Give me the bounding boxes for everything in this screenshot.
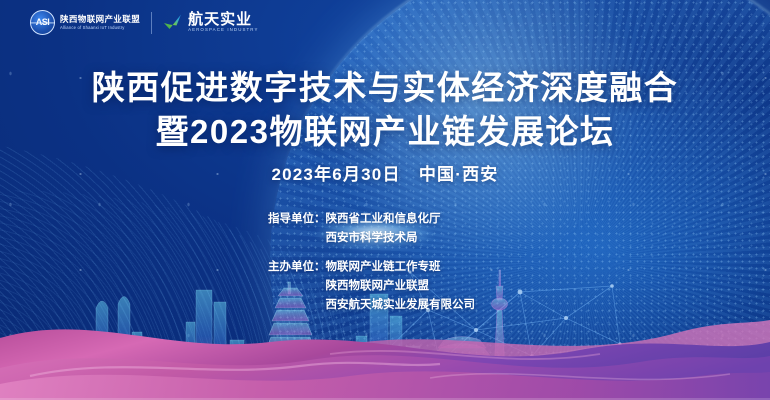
logo-bar: ASI 陕西物联网产业联盟 Alliance of Shaanxi IoT In… — [30, 10, 259, 35]
guidance-unit-block: 指导单位： 陕西省工业和信息化厅 西安市科学技术局 — [268, 210, 475, 247]
main-title: 陕西促进数字技术与实体经济深度融合 暨2023物联网产业链发展论坛 — [0, 66, 770, 154]
date-location: 2023年6月30日 中国·西安 — [0, 160, 770, 185]
aerospace-name-cn: 航天实业 — [188, 12, 258, 28]
title-line-1: 陕西促进数字技术与实体经济深度融合 — [0, 66, 770, 110]
asi-name-en: Alliance of Shaanxi IoT Industry — [60, 25, 140, 30]
guidance-unit-values: 陕西省工业和信息化厅 西安市科学技术局 — [326, 210, 441, 247]
host-unit-value: 西安航天城实业发展有限公司 — [326, 296, 476, 315]
host-unit-block: 主办单位： 物联网产业链工作专班 陕西物联网产业联盟 西安航天城实业发展有限公司 — [268, 258, 475, 314]
asi-logo[interactable]: ASI 陕西物联网产业联盟 Alliance of Shaanxi IoT In… — [30, 10, 140, 35]
aerospace-swoosh-icon — [163, 13, 182, 32]
host-unit-value: 物联网产业链工作专班 — [326, 258, 476, 277]
aerospace-logo[interactable]: 航天实业 AEROSPACE INDUSTRY — [163, 12, 258, 34]
aerospace-name-en: AEROSPACE INDUSTRY — [188, 27, 258, 33]
organizer-units: 指导单位： 陕西省工业和信息化厅 西安市科学技术局 主办单位： 物联网产业链工作… — [268, 210, 475, 325]
guidance-unit-value: 陕西省工业和信息化厅 — [326, 210, 441, 229]
guidance-unit-label: 指导单位： — [268, 210, 326, 247]
host-unit-value: 陕西物联网产业联盟 — [326, 277, 476, 296]
asi-circle-logo-icon: ASI — [30, 10, 55, 35]
vertical-divider-icon — [151, 12, 152, 34]
asi-name-cn: 陕西物联网产业联盟 — [60, 15, 140, 25]
title-line-2: 暨2023物联网产业链发展论坛 — [0, 110, 770, 154]
host-unit-values: 物联网产业链工作专班 陕西物联网产业联盟 西安航天城实业发展有限公司 — [326, 258, 476, 314]
guidance-unit-value: 西安市科学技术局 — [326, 229, 441, 248]
asi-mark-text: ASI — [36, 18, 50, 27]
event-banner: ASI 陕西物联网产业联盟 Alliance of Shaanxi IoT In… — [0, 0, 770, 400]
host-unit-label: 主办单位： — [268, 258, 326, 314]
